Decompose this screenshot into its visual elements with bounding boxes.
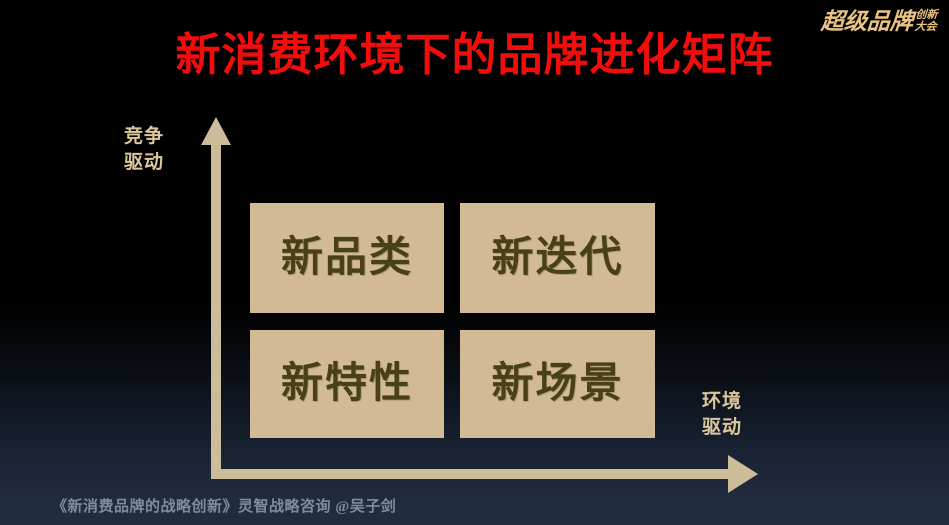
y-axis-label: 竞争 驱动 [124, 124, 190, 176]
x-axis-label-line-1: 环境 [702, 389, 772, 415]
matrix-cell-top-left: 新品类 [250, 203, 444, 313]
x-axis-line [211, 469, 731, 479]
matrix-cell-bottom-left: 新特性 [250, 330, 444, 438]
arrow-right-icon [728, 455, 758, 493]
matrix-cell-bottom-right: 新场景 [460, 330, 655, 438]
y-axis-label-line-2: 驱动 [124, 150, 190, 176]
y-axis-line [211, 140, 221, 478]
x-axis-label: 环境 驱动 [702, 389, 772, 441]
matrix-cell-top-right: 新迭代 [460, 203, 655, 313]
page-title: 新消费环境下的品牌进化矩阵 [0, 29, 949, 81]
footer-attribution: 《新消费品牌的战略创新》灵智战略咨询 @吴子剑 [52, 497, 396, 517]
logo-sub-line-1: 创新 [915, 9, 938, 21]
slide-canvas: 超级品牌 创新 大会 新消费环境下的品牌进化矩阵 竞争 驱动 环境 驱动 新品类… [0, 0, 949, 525]
x-axis-label-line-2: 驱动 [702, 415, 772, 441]
y-axis-label-line-1: 竞争 [124, 124, 190, 150]
